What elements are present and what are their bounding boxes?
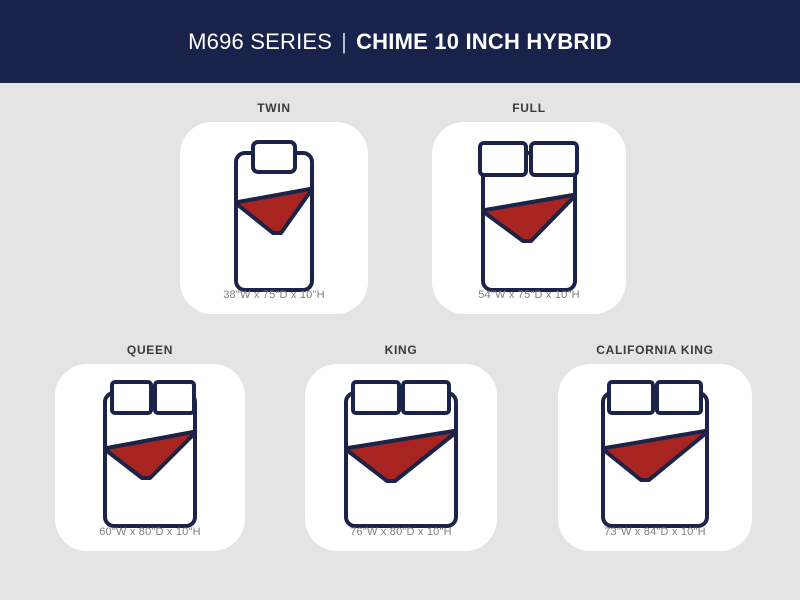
bed-twin-icon — [209, 138, 339, 296]
size-card-full[interactable]: FULL 54"W x 75"D x 10"H — [432, 100, 626, 314]
size-dimensions-california-king: 73"W x 84"D x 10"H — [558, 526, 752, 538]
size-card-king[interactable]: KING 76"W x 80"D x 10"H — [305, 342, 497, 551]
page-title: M696 SERIES | CHIME 10 INCH HYBRID — [188, 29, 612, 55]
size-dimensions-full: 54"W x 75"D x 10"H — [432, 289, 626, 301]
size-label-twin: TWIN — [180, 100, 368, 116]
size-card-queen[interactable]: QUEEN 60"W x 80"D x 10"H — [55, 342, 245, 551]
title-divider: | — [341, 29, 347, 55]
size-card-twin[interactable]: TWIN 38"W x 75"D x 10"H — [180, 100, 368, 314]
size-card-box-california-king[interactable]: 73"W x 84"D x 10"H — [558, 364, 752, 551]
size-card-box-full[interactable]: 54"W x 75"D x 10"H — [432, 122, 626, 314]
bed-full-icon — [459, 138, 599, 296]
size-dimensions-twin: 38"W x 75"D x 10"H — [180, 289, 368, 301]
size-card-california-king[interactable]: CALIFORNIA KING 73"W x 84"D x 10"H — [558, 342, 752, 551]
bed-queen-icon — [80, 378, 220, 533]
header-bar: M696 SERIES | CHIME 10 INCH HYBRID — [0, 0, 800, 83]
size-dimensions-king: 76"W x 80"D x 10"H — [305, 526, 497, 538]
size-label-full: FULL — [432, 100, 626, 116]
bed-king-icon — [327, 378, 475, 533]
series-name: M696 SERIES — [188, 29, 332, 55]
size-label-california-king: CALIFORNIA KING — [558, 342, 752, 358]
size-label-king: KING — [305, 342, 497, 358]
size-label-queen: QUEEN — [55, 342, 245, 358]
size-chart-board: TWIN 38"W x 75"D x 10"H FULL 54"W x 75"D — [0, 83, 800, 600]
size-card-box-queen[interactable]: 60"W x 80"D x 10"H — [55, 364, 245, 551]
bed-california-king-icon — [581, 378, 729, 533]
model-name: CHIME 10 INCH HYBRID — [356, 29, 612, 55]
size-dimensions-queen: 60"W x 80"D x 10"H — [55, 526, 245, 538]
size-card-box-king[interactable]: 76"W x 80"D x 10"H — [305, 364, 497, 551]
size-card-box-twin[interactable]: 38"W x 75"D x 10"H — [180, 122, 368, 314]
